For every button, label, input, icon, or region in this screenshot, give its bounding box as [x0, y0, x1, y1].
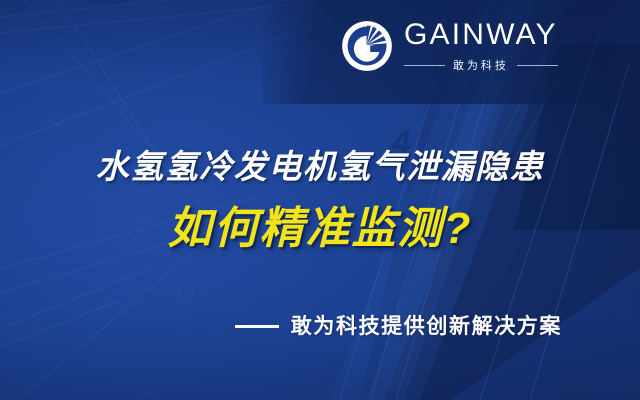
horizontal-rule-icon-left	[404, 65, 445, 66]
gainway-g-fan-emblem-icon	[340, 19, 394, 73]
headline-accent: 如何精准监测?	[0, 205, 640, 253]
brand-logo: GAINWAY 敢为科技	[340, 18, 558, 73]
logo-subtitle: 敢为科技	[453, 57, 509, 73]
em-dash-icon	[235, 325, 279, 328]
promo-banner: 4 GAINWAY 敢为科技	[0, 0, 640, 400]
headline-primary: 水氢氢冷发电机氢气泄漏隐患	[0, 148, 640, 187]
tagline-text: 敢为科技提供创新解决方案	[291, 316, 562, 337]
logo-subtitle-row: 敢为科技	[404, 57, 558, 73]
horizontal-rule-icon-right	[517, 65, 558, 66]
logo-text-block: GAINWAY 敢为科技	[404, 18, 558, 73]
tagline-block: 敢为科技提供创新解决方案	[0, 316, 640, 337]
headline-block: 水氢氢冷发电机氢气泄漏隐患 如何精准监测?	[0, 148, 640, 253]
logo-wordmark: GAINWAY	[404, 20, 558, 50]
